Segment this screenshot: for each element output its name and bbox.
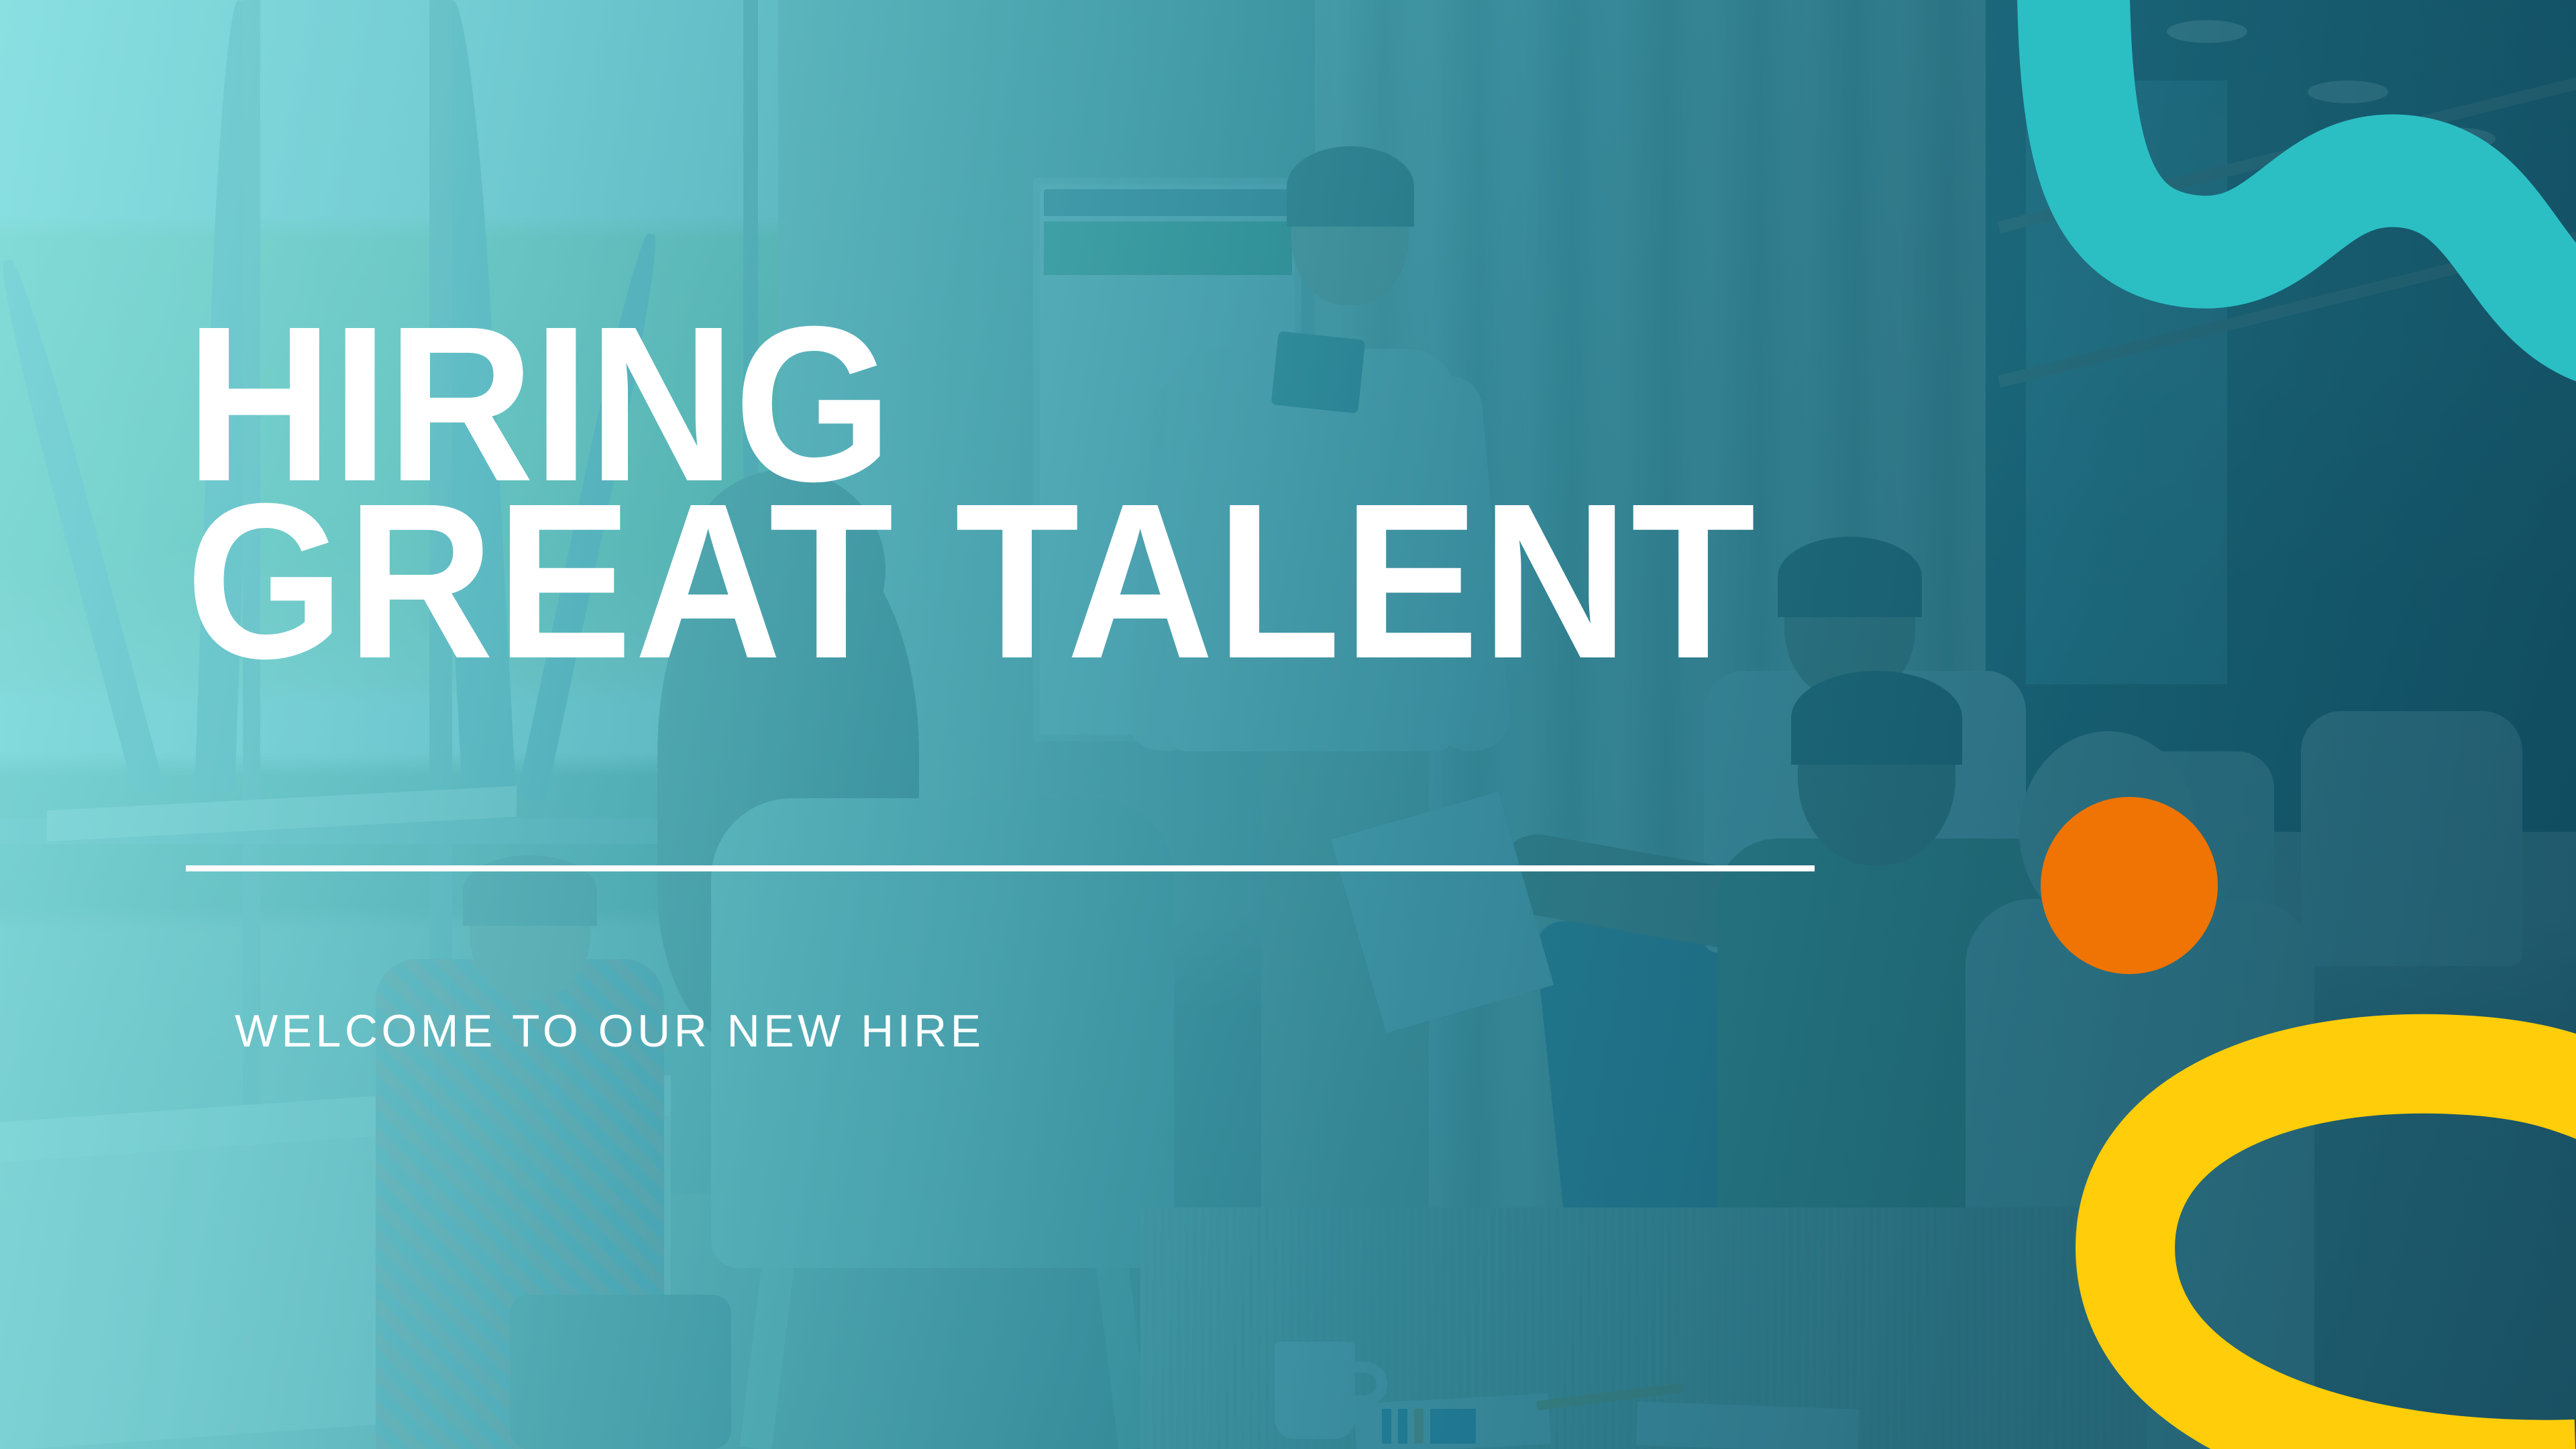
subtitle-text: WELCOME TO OUR NEW HIRE (235, 1005, 985, 1057)
horizontal-rule-divider (186, 865, 1815, 871)
yellow-open-arc-icon (2066, 1006, 2576, 1449)
hiring-banner: HIRING GREAT TALENT WELCOME TO OUR NEW H… (0, 0, 2576, 1449)
page-title-line-2: GREAT TALENT (186, 492, 1790, 669)
orange-circle-icon (2041, 797, 2218, 974)
headline-block: HIRING GREAT TALENT (186, 315, 1930, 669)
teal-wave-squiggle-icon (1972, 0, 2576, 691)
